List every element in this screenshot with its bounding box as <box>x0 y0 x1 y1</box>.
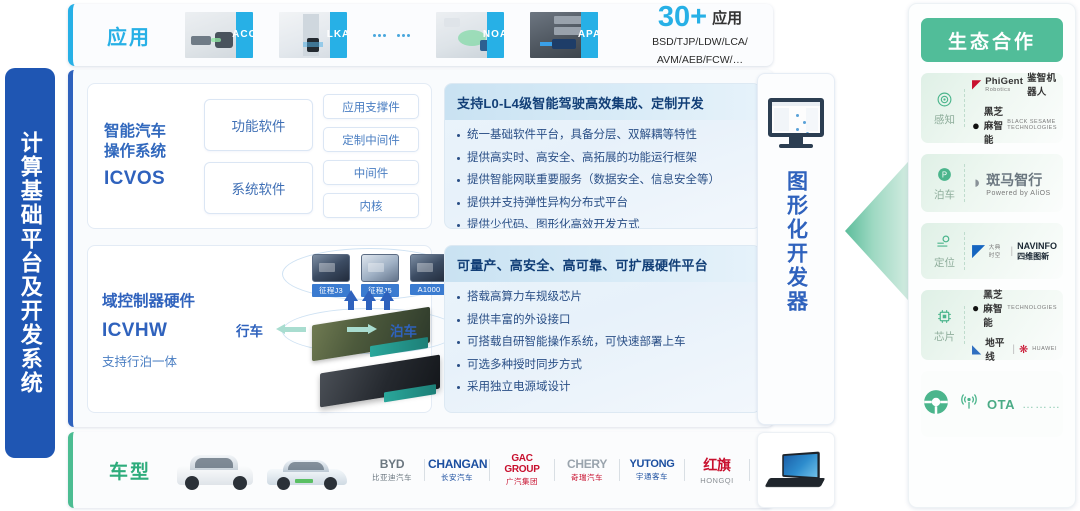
icvhw-illustration: 征程J3 征程J5 A1000 <box>234 246 423 412</box>
icvos-major-blocks: 功能软件 系统软件 <box>204 94 313 218</box>
icvhw-title-en: ICVHW <box>102 320 234 342</box>
vehicle-models-panel: 车型 BYD 比亚迪汽车 <box>68 432 773 508</box>
black-sesame-mark-icon: ● <box>972 301 979 315</box>
icvos-title-en: ICVOS <box>104 168 204 190</box>
os-feature-box: 支持L0-L4级智能驾驶高效集成、定制开发 统一基础软件平台，具备分层、双解耦等… <box>444 83 761 229</box>
parking-logos: ◗ 斑马智行 Powered by AliOS <box>965 170 1057 197</box>
ecosystem-panel: 生态合作 感知 ◤ PhiGent Robotics 鉴智机器人 <box>908 3 1076 508</box>
arrow-left-icon <box>276 324 306 334</box>
icvhw-card: 域控制器硬件 ICVHW 支持行泊一体 征程J3 <box>87 245 432 413</box>
logo-mark: Powered by AliOS <box>986 190 1050 197</box>
application-strip-label: 应用 <box>73 21 185 50</box>
parking-label: 泊车 <box>390 320 417 340</box>
ecosystem-card-parking: P 泊车 ◗ 斑马智行 Powered by AliOS <box>921 154 1063 212</box>
os-feature-item: 提供高实时、高安全、高拓展的功能运行框架 <box>457 151 748 167</box>
driving-label: 行车 <box>236 320 263 340</box>
parking-p-icon: P <box>925 164 964 184</box>
brand-hongqi: 红旗 HONGQI <box>688 455 746 485</box>
icvos-blocks: 功能软件 系统软件 应用支撑件 定制中间件 中间件 内核 <box>204 94 419 218</box>
logo-separator: | <box>1012 344 1015 355</box>
os-feature-item: 提供少代码、图形化高效开发方式 <box>457 218 748 229</box>
chip-j3-package <box>312 254 350 282</box>
os-feature-item: 统一基础软件平台，具备分层、双解耦等特性 <box>457 128 748 144</box>
icvos-minor-blocks: 应用支撑件 定制中间件 中间件 内核 <box>323 94 419 218</box>
brand-divider <box>489 459 490 481</box>
brand-mark: CHANGAN <box>428 457 486 471</box>
brand-gac: GAC GROUP 广汽集团 <box>493 453 551 487</box>
brand-changan: CHANGAN 长安汽车 <box>428 457 486 483</box>
hw-feature-heading: 可量产、高安全、高可靠、可扩展硬件平台 <box>445 246 760 282</box>
left-banner-label: 计算基础平台及开发系统 <box>17 131 43 395</box>
brand-cn: 长安汽车 <box>428 472 486 483</box>
ecosystem-header: 生态合作 <box>921 18 1063 62</box>
logo-mark-sub: TECHNOLOGIES <box>1007 125 1057 131</box>
brand-cn: 奇瑞汽车 <box>558 472 616 483</box>
category-label: 感知 <box>925 112 964 127</box>
logo-cn: 斑马智行 <box>986 170 1050 190</box>
sensor-eye-icon <box>925 89 964 109</box>
apa-tag: APA <box>581 12 598 58</box>
brand-divider <box>424 459 425 481</box>
os-feature-item: 提供智能网联重要服务（数据安全、信息安全等） <box>457 173 748 189</box>
block-middleware: 中间件 <box>323 160 419 185</box>
ecosystem-category-parking: P 泊车 <box>925 164 965 202</box>
ecosystem-card-positioning: 定位 ◤ 大典时空 | NAVINFO 四维图新 <box>921 223 1063 279</box>
changjian-mark-icon: ◤ <box>972 241 985 261</box>
sedan-photo <box>265 448 349 492</box>
app-count-summary: 30+应用 BSD/TJP/LDW/LCA/ AVM/AEB/FCW/… <box>624 3 782 68</box>
brand-yutong: YUTONG 宇通客车 <box>623 458 681 482</box>
category-label: 泊车 <box>925 187 964 202</box>
banma-mark-icon: ◗ <box>972 173 982 193</box>
hw-feature-list: 搭载高算力车规级芯片 提供丰富的外设接口 可搭载自研智能操作系统，可快速部署上车… <box>445 282 760 409</box>
laptop-icon <box>767 453 825 487</box>
logo-row-positioning: ◤ 大典时空 | NAVINFO 四维图新 <box>972 241 1057 262</box>
app-thumbnail-apa: APA <box>530 12 598 58</box>
brand-divider <box>554 459 555 481</box>
arrow-right-icon <box>347 324 377 334</box>
logo-separator: | <box>1011 246 1014 257</box>
positioning-logos: ◤ 大典时空 | NAVINFO 四维图新 <box>965 241 1057 262</box>
logo-cn: 地平线 <box>985 335 1008 363</box>
ota-label: OTA <box>987 397 1015 412</box>
brand-byd: BYD 比亚迪汽车 <box>363 457 421 483</box>
icvos-title-line1: 智能汽车 <box>104 122 204 142</box>
ecosystem-category-chips: 芯片 <box>925 306 965 344</box>
icvos-title: 智能汽车 操作系统 ICVOS <box>100 122 204 191</box>
left-vertical-banner: 计算基础平台及开发系统 <box>5 68 55 458</box>
block-kernel: 内核 <box>323 193 419 218</box>
hw-feature-item: 搭载高算力车规级芯片 <box>457 290 748 306</box>
horizon-brain-icon: ◣ <box>972 342 981 356</box>
suv-photo <box>173 448 257 492</box>
ecosystem-card-ota: OTA ……… <box>921 371 1063 437</box>
platform-main-panel: 智能汽车 操作系统 ICVOS 功能软件 系统软件 应用支撑件 定制中间件 中间… <box>68 70 773 427</box>
hw-feature-item: 提供丰富的外设接口 <box>457 313 748 329</box>
hardware-row: 域控制器硬件 ICVHW 支持行泊一体 征程J3 <box>87 245 761 413</box>
hw-feature-box: 可量产、高安全、高可靠、可扩展硬件平台 搭载高算力车规级芯片 提供丰富的外设接口… <box>444 245 761 413</box>
app-count-suffix: 应用 <box>712 7 742 28</box>
graphical-developer-label: 图形化开发器 <box>784 170 807 314</box>
logo-cn: 鉴智机器人 <box>1027 70 1057 98</box>
icvos-card: 智能汽车 操作系统 ICVOS 功能软件 系统软件 应用支撑件 定制中间件 中间… <box>87 83 432 229</box>
icvhw-subtitle: 支持行泊一体 <box>102 351 234 370</box>
block-app-support: 应用支撑件 <box>323 94 419 119</box>
brand-mark: YUTONG <box>623 458 681 470</box>
chip-j5-package <box>361 254 399 282</box>
brand-logos: BYD 比亚迪汽车 CHANGAN 长安汽车 GAC GROUP 广汽集团 CH… <box>363 453 811 487</box>
location-pin-icon <box>925 232 964 252</box>
brand-cn: 广汽集团 <box>493 476 551 487</box>
arrow-up-icon <box>344 290 358 301</box>
brand-mark: CHERY <box>558 457 616 471</box>
upward-arrows <box>344 290 394 301</box>
chip-a1000-label: A1000 <box>410 284 448 295</box>
logo-black-sesame: ● 黑芝麻智能 BLACK SESAME TECHNOLOGIES <box>972 104 1057 146</box>
category-label: 芯片 <box>925 329 964 344</box>
huawei-mark-icon: ❋ <box>1019 343 1028 356</box>
icvos-title-line2: 操作系统 <box>104 142 204 162</box>
brand-cn: 宇通客车 <box>623 471 681 482</box>
acc-tag: ACC <box>236 12 253 58</box>
category-label: 定位 <box>925 255 964 270</box>
arrow-up-icon <box>380 290 394 301</box>
logo-mark: PhiGent <box>985 76 1023 87</box>
logo-mark: NAVINFO <box>1017 241 1057 251</box>
noa-tag: NOA <box>487 12 504 58</box>
svg-text:P: P <box>942 170 947 179</box>
icvhw-title: 域控制器硬件 ICVHW 支持行泊一体 <box>102 289 234 370</box>
chip-logos: ● 黑芝麻智能 TECHNOLOGIES ◣ 地平线 | ❋ HUAWEI <box>965 287 1057 363</box>
app-count-line1: BSD/TJP/LDW/LCA/ <box>624 36 776 50</box>
brand-cn: 红旗 <box>688 455 746 475</box>
hw-feature-item: 采用独立电源域设计 <box>457 380 748 396</box>
ecu-enclosure-image <box>320 354 440 407</box>
app-thumbnail-lka: LKA <box>279 12 347 58</box>
steering-wheel-icon <box>921 387 951 422</box>
os-feature-list: 统一基础软件平台，具备分层、双解耦等特性 提供高实时、高安全、高拓展的功能运行框… <box>445 120 760 229</box>
brand-mark: HONGQI <box>688 476 746 485</box>
diagram-canvas: 计算基础平台及开发系统 应用 ACC LKA <box>0 0 1080 511</box>
ota-dots: ……… <box>1022 397 1061 411</box>
brand-divider <box>684 459 685 481</box>
arrow-up-icon <box>362 290 376 301</box>
os-feature-heading: 支持L0-L4级智能驾驶高效集成、定制开发 <box>445 84 760 120</box>
logo-cn: 四维图新 <box>1017 251 1057 262</box>
chip-a1000: A1000 <box>410 254 448 297</box>
app-thumbnail-acc: ACC <box>185 12 253 58</box>
logo-cn: 黑芝麻智能 <box>984 104 1003 146</box>
brand-cn: 比亚迪汽车 <box>363 472 421 483</box>
monitor-icon <box>768 98 824 148</box>
app-count-line2: AVM/AEB/FCW/… <box>624 54 776 68</box>
logo-banma: ◗ 斑马智行 Powered by AliOS <box>972 170 1057 197</box>
hw-feature-item: 可选多种授时同步方式 <box>457 358 748 374</box>
ellipsis-dots <box>373 34 410 37</box>
ecosystem-category-positioning: 定位 <box>925 232 965 270</box>
hw-feature-item: 可搭载自研智能操作系统，可快速部署上车 <box>457 335 748 351</box>
block-custom-middleware: 定制中间件 <box>323 127 419 152</box>
block-function-software: 功能软件 <box>204 99 313 151</box>
signal-wave-icon <box>958 392 980 417</box>
brand-divider <box>749 459 750 481</box>
phigent-mark-icon: ◤ <box>972 77 981 91</box>
logo-mark-sub: Robotics <box>985 87 1023 93</box>
app-count-plus: + <box>690 3 707 32</box>
ecosystem-category-perception: 感知 <box>925 89 965 127</box>
vehicle-photos <box>173 448 349 492</box>
chip-icon <box>925 306 964 326</box>
ecosystem-arrow <box>845 152 917 310</box>
application-strip: 应用 ACC LKA <box>68 4 773 66</box>
logo-mark: HUAWEI <box>1032 346 1057 352</box>
os-row: 智能汽车 操作系统 ICVOS 功能软件 系统软件 应用支撑件 定制中间件 中间… <box>87 83 761 229</box>
application-thumbnails: ACC LKA NOA <box>185 12 624 58</box>
chip-a1000-package <box>410 254 448 282</box>
block-system-software: 系统软件 <box>204 162 313 214</box>
logo-mark-sub: TECHNOLOGIES <box>1007 305 1057 311</box>
graphical-developer-column: 图形化开发器 <box>757 73 835 425</box>
brand-divider <box>619 459 620 481</box>
logo-black-sesame-chip: ● 黑芝麻智能 TECHNOLOGIES <box>972 287 1057 329</box>
app-count-number: 30 <box>658 3 690 32</box>
lka-tag: LKA <box>330 12 347 58</box>
vehicle-models-label: 车型 <box>87 457 173 484</box>
ecosystem-card-perception: 感知 ◤ PhiGent Robotics 鉴智机器人 ● 黑芝麻智能 BLAC… <box>921 73 1063 143</box>
icvhw-title-cn: 域控制器硬件 <box>102 289 234 311</box>
brand-chery: CHERY 奇瑞汽车 <box>558 457 616 483</box>
laptop-box <box>757 432 835 508</box>
os-feature-item: 提供并支持弹性异构分布式平台 <box>457 196 748 212</box>
brand-mark: BYD <box>363 457 421 471</box>
app-thumbnail-noa: NOA <box>436 12 504 58</box>
perception-logos: ◤ PhiGent Robotics 鉴智机器人 ● 黑芝麻智能 BLACK S… <box>965 70 1057 146</box>
logo-phigent: ◤ PhiGent Robotics 鉴智机器人 <box>972 70 1057 98</box>
logo-horizon-huawei: ◣ 地平线 | ❋ HUAWEI <box>972 335 1057 363</box>
black-sesame-mark-icon: ● <box>972 118 980 133</box>
logo-cn: 大典时空 <box>989 243 1007 259</box>
ecosystem-card-chips: 芯片 ● 黑芝麻智能 TECHNOLOGIES ◣ 地平线 | ❋ HUAWEI <box>921 290 1063 360</box>
logo-cn: 黑芝麻智能 <box>983 287 1003 329</box>
brand-mark: GAC GROUP <box>493 453 551 475</box>
